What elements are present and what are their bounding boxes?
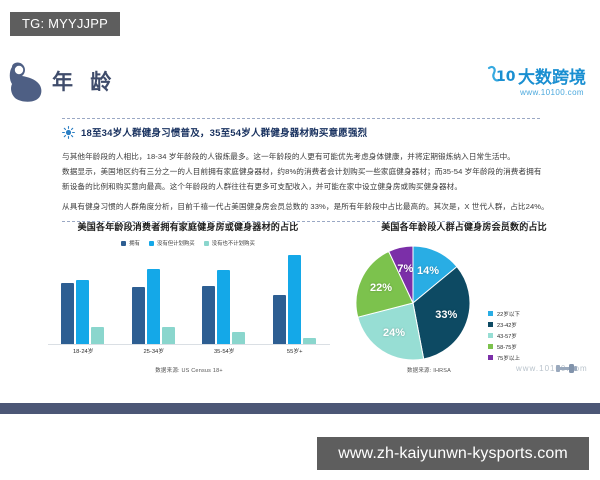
bar [232,332,245,344]
pie-legend-label: 43-57岁 [497,332,517,340]
bar-group [202,252,245,344]
bar-group [132,252,175,344]
bar [61,283,74,344]
pie-slice-label: 33% [435,309,457,321]
pie-legend-swatch [488,344,493,349]
charts-row: 美国各年龄段消费者拥有家庭健身房或健身器材的占比 拥有 没有但计划购买 没有也不… [0,220,600,395]
brand-url: www.10100.com [468,88,586,97]
callout-paragraph: 新设备的比例和购买意向最高。这个年龄段的人群往往有更多可支配收入，并可能在家中设… [62,179,540,194]
legend-item: 没有但计划购买 [149,239,195,247]
bar [303,338,316,344]
pie-legend-label: 58-75岁 [497,343,517,351]
site-watermark: www.zh-kaiyunwn-kysports.com [317,437,589,470]
page-title: 年 龄 [52,66,116,96]
slide-card: 年 龄 100 大数跨境 www.10100.com [0,55,600,413]
callout-headline: 18至34岁人群健身习惯普及，35至54岁人群健身器材购买意愿强烈 [62,125,540,139]
bar [273,295,286,344]
slide-header: 年 龄 100 大数跨境 www.10100.com [0,55,600,107]
bottom-accent-bar [0,403,600,414]
legend-label: 没有但计划购买 [157,239,195,247]
bar-chart: 美国各年龄段消费者拥有家庭健身房或健身器材的占比 拥有 没有但计划购买 没有也不… [38,220,338,395]
bar-chart-plot-area [48,252,330,345]
legend-swatch-plan-to-buy [149,241,154,246]
legend-swatch-no-plan [204,241,209,246]
bar-chart-x-axis: 18-24岁25-34岁35-54岁55岁+ [48,346,330,358]
bar [147,269,160,344]
pie-legend-label: 75岁以上 [497,354,520,362]
pie-legend-swatch [488,355,493,360]
legend-swatch-owned [121,241,126,246]
legend-label: 拥有 [129,239,140,247]
bar [91,327,104,344]
bar-x-label: 25-34岁 [119,346,190,355]
pie-legend-item: 58-75岁 [488,341,578,352]
bar [76,280,89,344]
tg-handle-badge: TG: MYYJJPP [10,12,120,36]
pie-chart: 美国各年龄段人群占健身房会员数的占比 14%33%24%22%7% 22岁以下2… [338,220,590,395]
callout-headline-text: 18至34岁人群健身习惯普及，35至54岁人群健身器材购买意愿强烈 [81,125,367,139]
legend-label: 没有也不计划购买 [212,239,255,247]
pie-slice-label: 7% [397,263,413,275]
pie-legend-item: 43-57岁 [488,330,578,341]
pie-chart-title: 美国各年龄段人群占健身房会员数的占比 [338,220,590,233]
bar-chart-source: 数据来源: US Census 18+ [48,366,330,374]
pie-legend-swatch [488,322,493,327]
bar [202,286,215,344]
bar-x-label: 18-24岁 [48,346,119,355]
callout-block: 18至34岁人群健身习惯普及，35至54岁人群健身器材购买意愿强烈 与其他年龄段… [62,118,540,222]
legend-item: 拥有 [121,239,140,247]
brand-block: 100 大数跨境 www.10100.com [468,63,586,103]
pie-legend-item: 22岁以下 [488,308,578,319]
pie-slice-label: 24% [383,327,405,339]
bar-x-label: 35-54岁 [189,346,260,355]
pie-chart-plot-area: 14%33%24%22%7% [354,244,472,362]
bar-group [61,252,104,344]
flexed-muscle-icon [6,61,52,103]
pie-chart-legend: 22岁以下23-42岁43-57岁58-75岁75岁以上 [488,308,578,363]
pie-legend-label: 22岁以下 [497,310,520,318]
pie-legend-swatch [488,333,493,338]
sun-icon [62,126,75,139]
callout-paragraph: 数据显示，美国地区约有三分之一的人目前拥有家庭健身器材，约8%的消费者会计划购买… [62,164,540,179]
callout-paragraph: 与其他年龄段的人相比，18-34 岁年龄段的人锻炼最多。这一年龄段的人更有可能优… [62,149,540,164]
bar [217,270,230,344]
pie-slice-label: 14% [417,265,439,277]
bar-chart-title: 美国各年龄段消费者拥有家庭健身房或健身器材的占比 [38,220,338,233]
svg-text:100: 100 [496,69,515,85]
brand-name: 大数跨境 [518,63,586,88]
pie-legend-label: 23-42岁 [497,321,517,329]
brand-100-logo-icon: 100 [487,64,515,86]
legend-item: 没有也不计划购买 [204,239,255,247]
dumbbell-icon [554,358,580,378]
bar-x-label: 55岁+ [260,346,331,355]
callout-paragraph: 从具有健身习惯的人群角度分析，目前千禧一代占美国健身房会员总数的 33%，是所有… [62,199,540,214]
bar-group [273,252,316,344]
bar [132,287,145,344]
pie-slice-label: 22% [370,282,392,294]
bar [288,255,301,344]
pie-legend-item: 23-42岁 [488,319,578,330]
bar [162,327,175,344]
bar-chart-legend: 拥有 没有但计划购买 没有也不计划购买 [38,239,338,247]
pie-legend-swatch [488,311,493,316]
pie-chart-source: 数据来源: IHRSA [344,366,514,374]
